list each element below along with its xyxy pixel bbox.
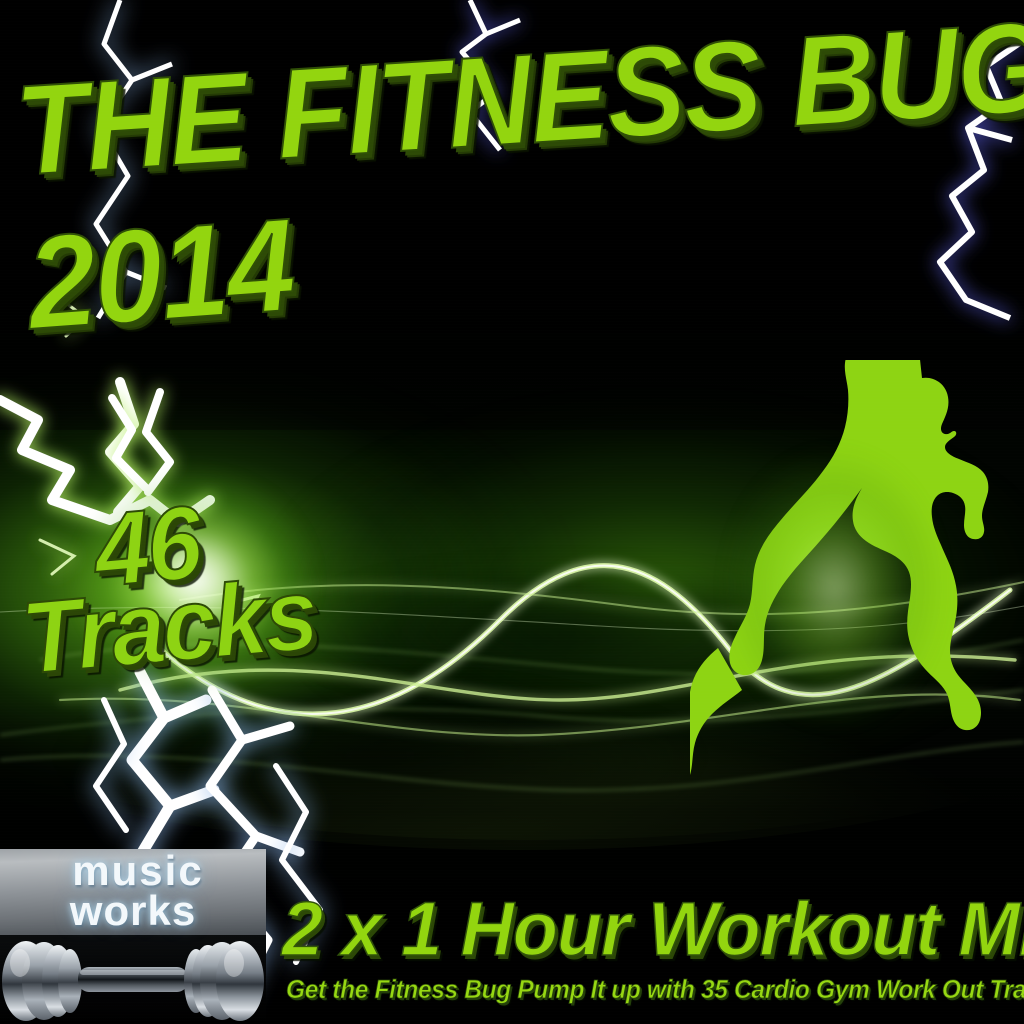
- logo-line1: music: [0, 851, 266, 891]
- logo-line2: works: [0, 891, 266, 931]
- dumbbell-icon: [0, 937, 266, 1023]
- page-title-line2: 2014: [22, 189, 298, 359]
- album-cover: THE FITNESS BUG 2014 46 Tracks 2 x 1 Hou…: [0, 0, 1024, 1024]
- mix-subline: Get the Fitness Bug Pump It up with 35 C…: [286, 974, 1024, 1005]
- runner-glow: [700, 390, 1020, 770]
- music-works-logo[interactable]: music works: [0, 849, 266, 1024]
- page-title-line1: THE FITNESS BUG: [11, 0, 1024, 205]
- logo-wordmark: music works: [0, 851, 266, 931]
- running-man-silhouette-icon: [690, 360, 1024, 780]
- mix-headline: 2 x 1 Hour Workout Mix: [282, 886, 1024, 973]
- title-block: THE FITNESS BUG 2014: [0, 0, 1024, 400]
